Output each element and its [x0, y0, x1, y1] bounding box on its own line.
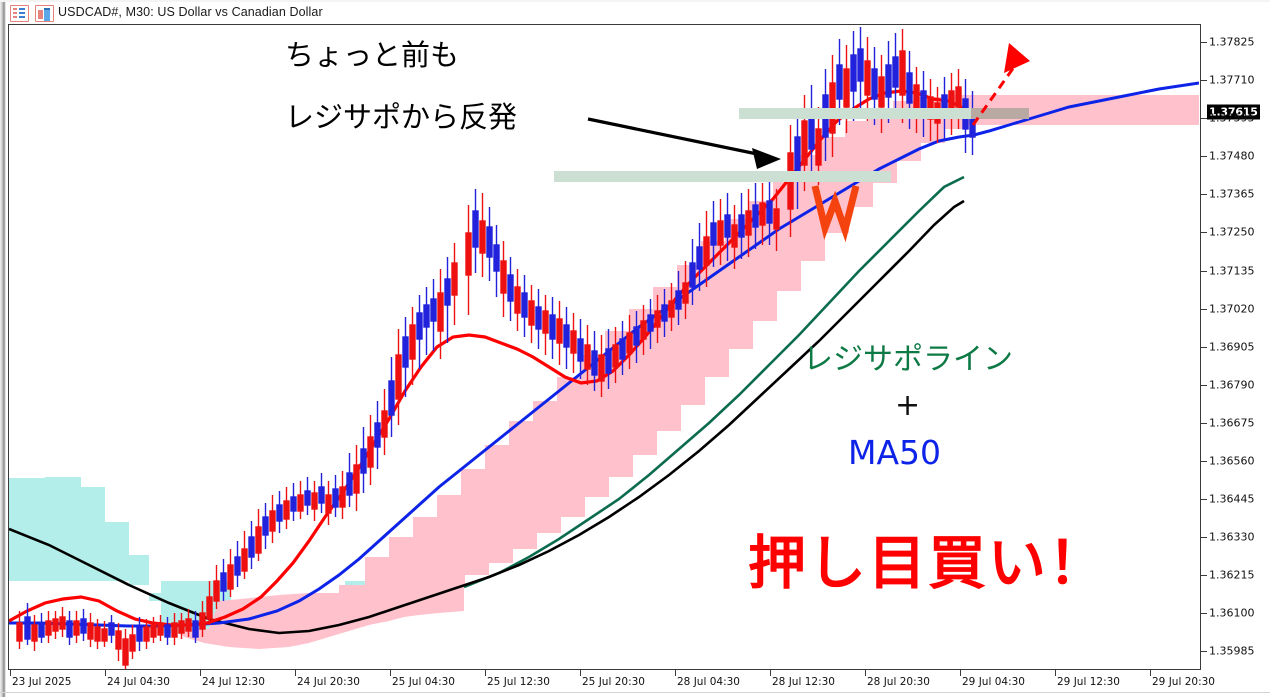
- price-tick-label: 1.36330: [1209, 530, 1255, 543]
- time-tick-label: 23 Jul 2025: [12, 676, 71, 688]
- time-tick-label: 29 Jul 04:30: [962, 676, 1025, 688]
- price-tick-label: 1.37480: [1209, 150, 1255, 163]
- price-tick-label: 1.37595: [1209, 112, 1255, 125]
- price-tick: [1201, 118, 1207, 119]
- chart-title-bar: USDCAD#, M30: US Dollar vs Canadian Doll…: [6, 2, 1270, 24]
- resistance-zone-lower[interactable]: [554, 171, 891, 182]
- time-tick: [580, 670, 581, 676]
- price-tick: [1201, 232, 1207, 233]
- chart-window: USDCAD#, M30: US Dollar vs Canadian Doll…: [0, 0, 1270, 697]
- time-tick: [770, 670, 771, 676]
- time-tick: [10, 670, 11, 676]
- time-tick: [675, 670, 676, 676]
- time-tick-label: 25 Jul 20:30: [582, 676, 645, 688]
- time-tick-label: 24 Jul 20:30: [297, 676, 360, 688]
- time-tick: [295, 670, 296, 676]
- annotation-top-line1: ちょっと前も: [285, 31, 459, 79]
- price-tick: [1201, 575, 1207, 576]
- price-tick-label: 1.35985: [1209, 645, 1255, 658]
- titlebar-icon-group: [10, 5, 54, 22]
- price-tick: [1201, 651, 1207, 652]
- resistance-zone-upper-extension[interactable]: [971, 108, 1029, 119]
- price-tick-label: 1.37710: [1209, 74, 1255, 87]
- price-tick-label: 1.36100: [1209, 607, 1255, 620]
- price-tick-label: 1.37135: [1209, 264, 1255, 277]
- time-tick: [485, 670, 486, 676]
- window-left-border: [0, 0, 6, 697]
- price-tick-label: 1.36215: [1209, 569, 1255, 582]
- time-tick-label: 28 Jul 04:30: [677, 676, 740, 688]
- time-tick-label: 28 Jul 20:30: [867, 676, 930, 688]
- price-tick: [1201, 80, 1207, 81]
- time-tick: [865, 670, 866, 676]
- chart-symbol-title: USDCAD#, M30: US Dollar vs Canadian Doll…: [58, 5, 323, 19]
- time-tick: [960, 670, 961, 676]
- annotation-top-line2: レジサポから反発: [285, 93, 517, 141]
- price-tick: [1201, 613, 1207, 614]
- document-list-icon[interactable]: [10, 5, 29, 22]
- time-tick-label: 24 Jul 04:30: [107, 676, 170, 688]
- price-tick: [1201, 156, 1207, 157]
- time-tick: [200, 670, 201, 676]
- price-tick-label: 1.36905: [1209, 340, 1255, 353]
- price-tick-label: 1.36675: [1209, 416, 1255, 429]
- price-scale[interactable]: 1.378251.377101.376151.375951.374801.373…: [1201, 24, 1270, 670]
- price-tick-label: 1.37020: [1209, 302, 1255, 315]
- annotation-ma50-label: MA50: [848, 433, 941, 472]
- time-tick: [1150, 670, 1151, 676]
- annotation-resistance-line-label: レジサポライン: [803, 334, 1013, 378]
- price-tick-label: 1.37250: [1209, 226, 1255, 239]
- price-tick-label: 1.36790: [1209, 378, 1255, 391]
- time-tick-label: 29 Jul 20:30: [1152, 676, 1215, 688]
- price-tick: [1201, 309, 1207, 310]
- price-tick: [1201, 42, 1207, 43]
- price-tick: [1201, 271, 1207, 272]
- chart-window-icon[interactable]: [35, 5, 54, 22]
- window-bottom-separator: [0, 692, 1270, 693]
- price-tick-label: 1.37365: [1209, 188, 1255, 201]
- price-tick: [1201, 423, 1207, 424]
- time-tick-label: 24 Jul 12:30: [202, 676, 265, 688]
- time-tick-label: 25 Jul 12:30: [487, 676, 550, 688]
- price-tick: [1201, 537, 1207, 538]
- price-tick-label: 1.36445: [1209, 492, 1255, 505]
- time-tick-label: 25 Jul 04:30: [392, 676, 455, 688]
- time-tick: [390, 670, 391, 676]
- price-tick: [1201, 194, 1207, 195]
- resistance-zone-upper[interactable]: [739, 108, 971, 119]
- price-tick: [1201, 461, 1207, 462]
- price-tick: [1201, 347, 1207, 348]
- time-tick: [1055, 670, 1056, 676]
- annotation-buy-the-dip: 押し目買い！: [748, 516, 1108, 600]
- time-tick-label: 29 Jul 12:30: [1057, 676, 1120, 688]
- time-tick-label: 28 Jul 12:30: [772, 676, 835, 688]
- time-tick: [105, 670, 106, 676]
- bullish-projection-arrow-head: [1004, 43, 1030, 73]
- price-tick-label: 1.37825: [1209, 36, 1255, 49]
- price-tick: [1201, 499, 1207, 500]
- price-tick-label: 1.36560: [1209, 454, 1255, 467]
- annotation-plus-symbol: +: [895, 388, 920, 423]
- price-tick: [1201, 385, 1207, 386]
